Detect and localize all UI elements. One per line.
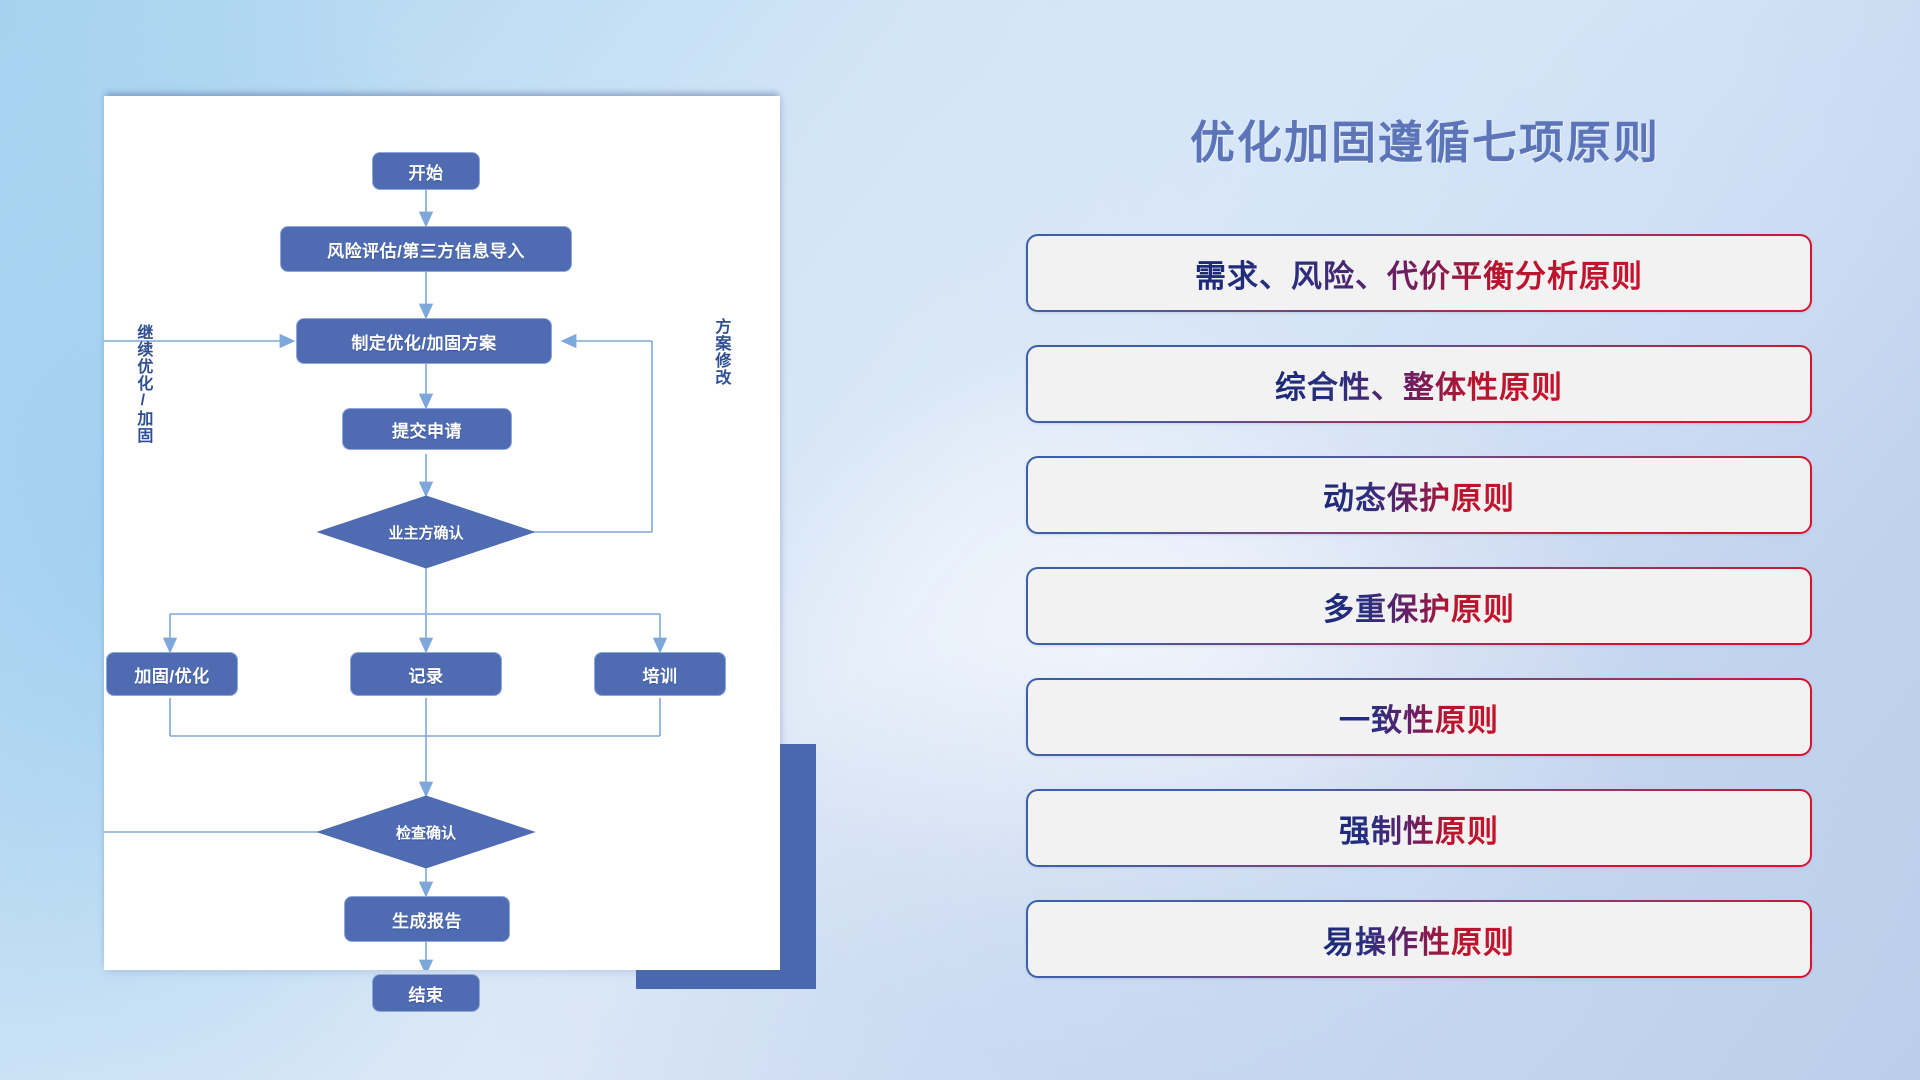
- principle-label: 强制性原则: [1339, 806, 1499, 851]
- node-start[interactable]: 开始: [372, 152, 480, 190]
- principle-label: 一致性原则: [1339, 695, 1499, 740]
- principle-label: 易操作性原则: [1323, 917, 1515, 962]
- principle-label: 综合性、整体性原则: [1275, 362, 1563, 407]
- node-generate-report[interactable]: 生成报告: [344, 896, 510, 942]
- node-label: 提交申请: [392, 417, 462, 442]
- node-label: 加固/优化: [134, 662, 209, 687]
- node-reinforce-optimize[interactable]: 加固/优化: [106, 652, 238, 696]
- principle-item[interactable]: 一致性原则: [1026, 678, 1812, 756]
- node-training[interactable]: 培训: [594, 652, 726, 696]
- decision-owner-confirm: [318, 496, 534, 568]
- node-label: 记录: [409, 662, 444, 687]
- principle-item[interactable]: 动态保护原则: [1026, 456, 1812, 534]
- principle-label: 多重保护原则: [1323, 584, 1515, 629]
- node-record[interactable]: 记录: [350, 652, 502, 696]
- principle-item[interactable]: 需求、风险、代价平衡分析原则: [1026, 234, 1812, 312]
- node-label: 生成报告: [392, 907, 462, 932]
- node-label: 风险评估/第三方信息导入: [327, 237, 525, 262]
- node-end[interactable]: 结束: [372, 974, 480, 1012]
- principle-item[interactable]: 多重保护原则: [1026, 567, 1812, 645]
- principle-label: 需求、风险、代价平衡分析原则: [1195, 251, 1643, 296]
- node-submit-application[interactable]: 提交申请: [342, 408, 512, 450]
- node-make-plan[interactable]: 制定优化/加固方案: [296, 318, 552, 364]
- node-label: 培训: [643, 662, 678, 687]
- principle-item[interactable]: 综合性、整体性原则: [1026, 345, 1812, 423]
- flowchart: 开始 风险评估/第三方信息导入 制定优化/加固方案 提交申请 业主方确认 加固/…: [104, 96, 780, 970]
- principle-item[interactable]: 强制性原则: [1026, 789, 1812, 867]
- decision-check-confirm: [318, 796, 534, 868]
- edge-label-left-loop: 继续优化/加固: [134, 324, 150, 492]
- page-title: 优化加固遵循七项原则: [1020, 106, 1830, 171]
- node-risk-assessment[interactable]: 风险评估/第三方信息导入: [280, 226, 572, 272]
- principle-item[interactable]: 易操作性原则: [1026, 900, 1812, 978]
- principle-label: 动态保护原则: [1323, 473, 1515, 518]
- principles-panel: 优化加固遵循七项原则 需求、风险、代价平衡分析原则 综合性、整体性原则 动态保护…: [1020, 86, 1830, 1016]
- node-label: 结束: [409, 981, 444, 1006]
- node-label: 制定优化/加固方案: [351, 329, 496, 354]
- node-label: 开始: [409, 159, 444, 184]
- edge-label-right-loop: 方案修改: [712, 318, 728, 438]
